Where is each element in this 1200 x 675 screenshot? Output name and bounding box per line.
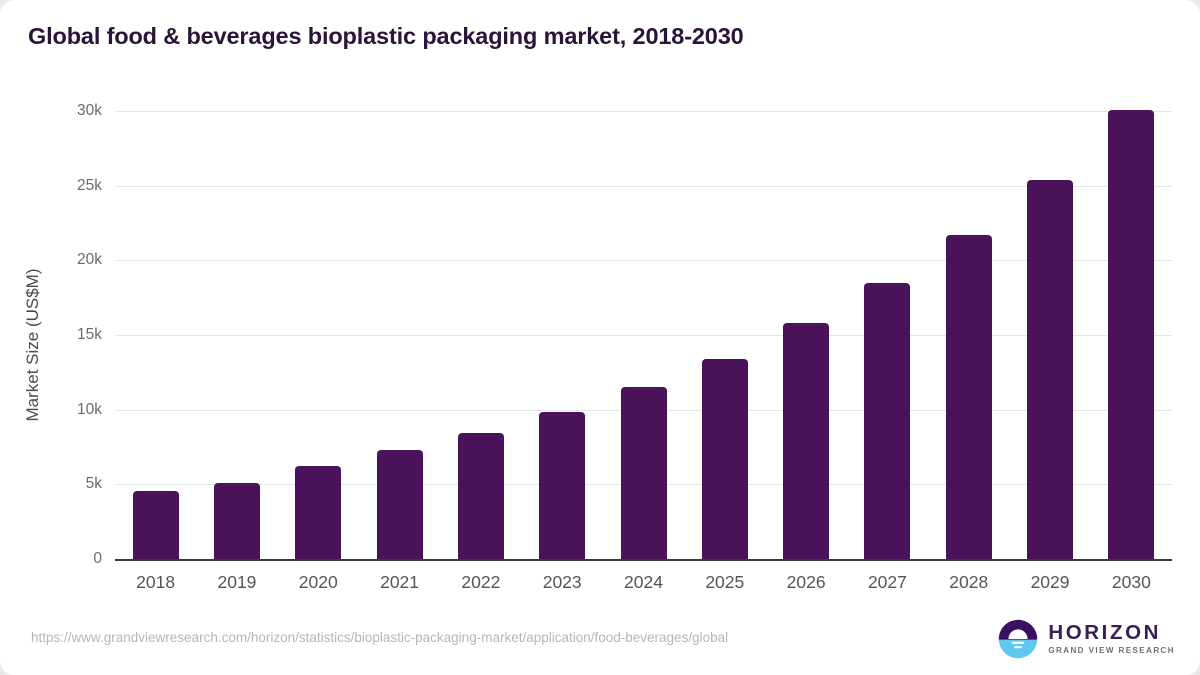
gridline bbox=[115, 260, 1172, 261]
y-axis-tick-label: 15k bbox=[22, 326, 102, 344]
x-axis-tick-label: 2019 bbox=[192, 572, 282, 593]
horizon-logo[interactable]: HORIZON GRAND VIEW RESEARCH bbox=[998, 618, 1175, 660]
plot-area bbox=[115, 111, 1172, 559]
horizon-logo-text: HORIZON GRAND VIEW RESEARCH bbox=[1048, 623, 1175, 656]
gridline bbox=[115, 335, 1172, 336]
y-axis-tick-label: 30k bbox=[22, 102, 102, 120]
chart-card: Global food & beverages bioplastic packa… bbox=[0, 0, 1200, 675]
x-axis-tick-label: 2028 bbox=[924, 572, 1014, 593]
x-axis-tick-label: 2024 bbox=[599, 572, 689, 593]
bar[interactable] bbox=[1108, 110, 1154, 559]
x-axis-tick-label: 2025 bbox=[680, 572, 770, 593]
y-axis-tick-label: 0 bbox=[22, 550, 102, 568]
source-url[interactable]: https://www.grandviewresearch.com/horizo… bbox=[31, 630, 728, 645]
bar[interactable] bbox=[1027, 180, 1073, 559]
y-axis-tick-label: 25k bbox=[22, 177, 102, 195]
y-axis-tick-labels: 05k10k15k20k25k30k bbox=[22, 0, 102, 675]
bar[interactable] bbox=[702, 359, 748, 559]
logo-tagline: GRAND VIEW RESEARCH bbox=[1048, 647, 1175, 655]
logo-brand-name: HORIZON bbox=[1048, 623, 1175, 644]
x-axis-tick-label: 2027 bbox=[842, 572, 932, 593]
bar[interactable] bbox=[783, 323, 829, 559]
x-axis-tick-label: 2021 bbox=[355, 572, 445, 593]
bar[interactable] bbox=[295, 466, 341, 559]
x-axis-tick-label: 2026 bbox=[761, 572, 851, 593]
gridline bbox=[115, 111, 1172, 112]
bar[interactable] bbox=[946, 235, 992, 559]
x-axis-tick-label: 2020 bbox=[273, 572, 363, 593]
x-axis-tick-label: 2030 bbox=[1086, 572, 1176, 593]
page-title: Global food & beverages bioplastic packa… bbox=[28, 23, 744, 50]
bar[interactable] bbox=[214, 483, 260, 559]
y-axis-tick-label: 20k bbox=[22, 251, 102, 269]
x-axis-tick-label: 2029 bbox=[1005, 572, 1095, 593]
bar[interactable] bbox=[621, 387, 667, 559]
x-axis-line bbox=[115, 559, 1172, 561]
y-axis-tick-label: 10k bbox=[22, 401, 102, 419]
bar[interactable] bbox=[133, 491, 179, 559]
x-axis-tick-label: 2023 bbox=[517, 572, 607, 593]
y-axis-tick-label: 5k bbox=[22, 475, 102, 493]
bar[interactable] bbox=[539, 412, 585, 559]
bar[interactable] bbox=[458, 433, 504, 559]
horizon-logo-icon bbox=[998, 619, 1038, 659]
x-axis-tick-label: 2022 bbox=[436, 572, 526, 593]
bar[interactable] bbox=[377, 450, 423, 559]
bar[interactable] bbox=[864, 283, 910, 559]
x-axis-tick-label: 2018 bbox=[111, 572, 201, 593]
gridline bbox=[115, 186, 1172, 187]
